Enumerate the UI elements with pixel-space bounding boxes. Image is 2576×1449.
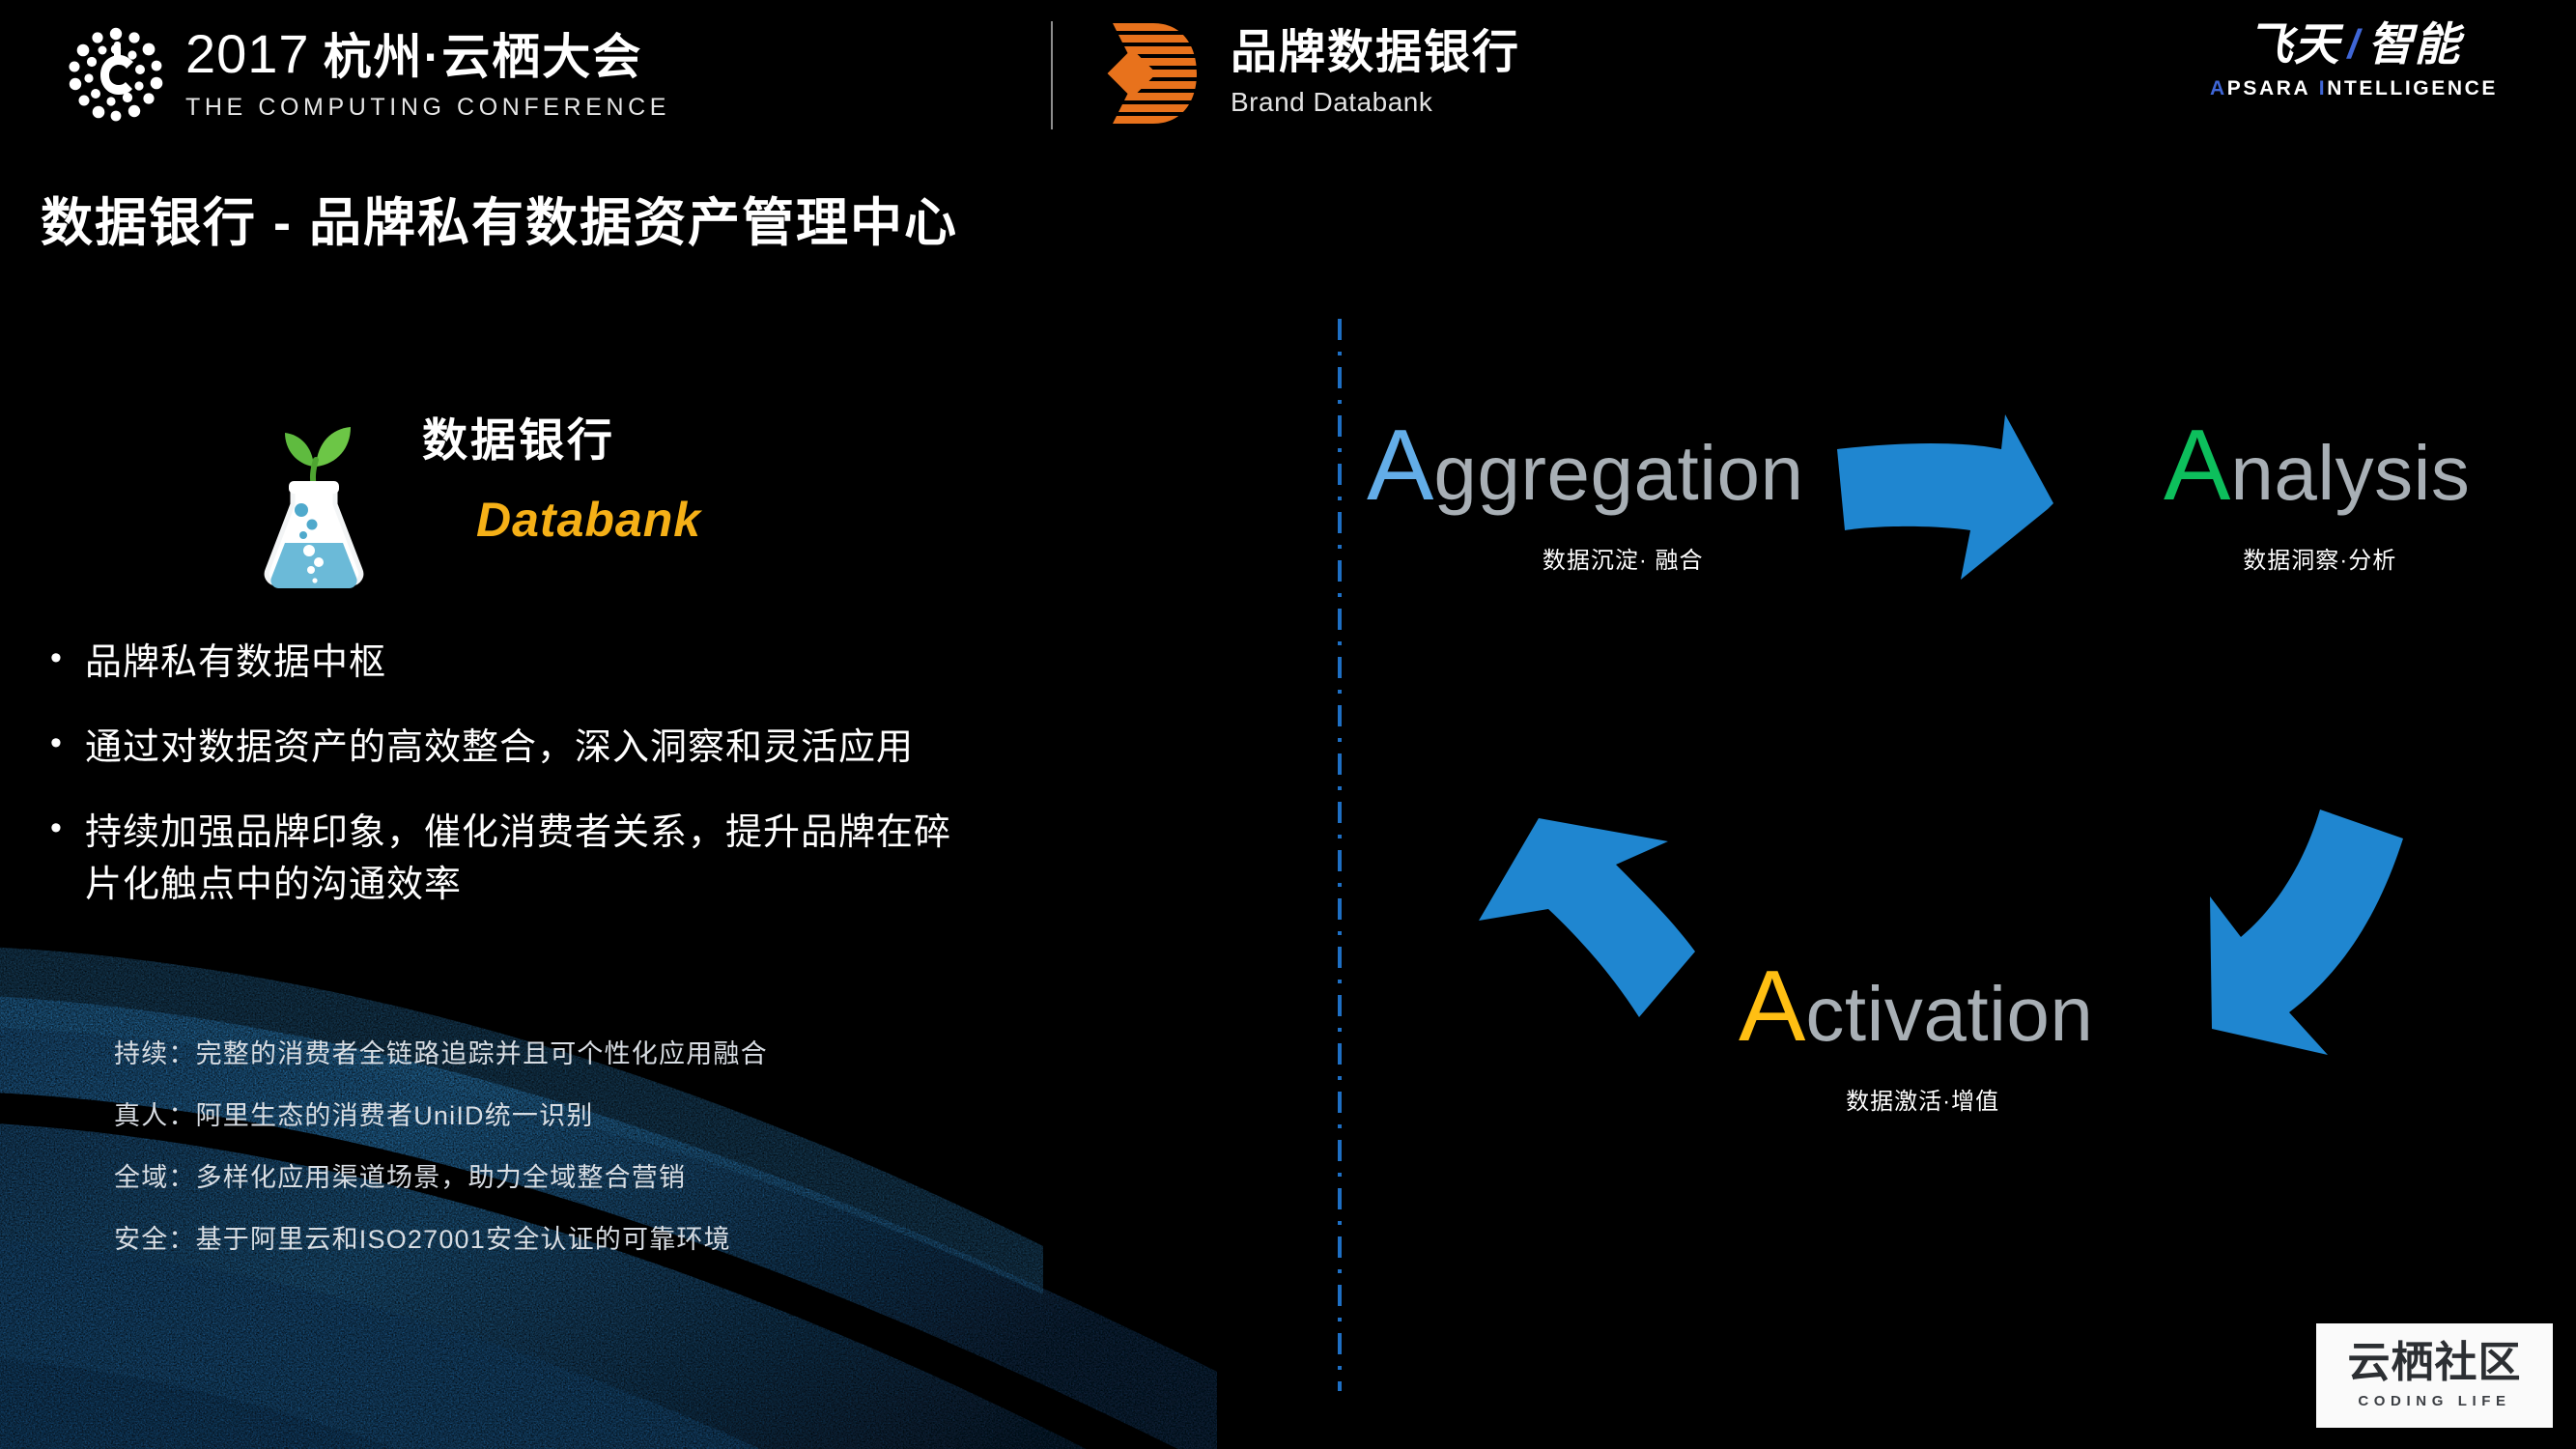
bullet-marker: • (27, 638, 85, 679)
diagram-node-analysis: Analysis 数据洞察·分析 (2164, 415, 2470, 575)
notes-list: 持续：完整的消费者全链路追踪并且可个性化应用融合 真人：阿里生态的消费者UniI… (114, 1041, 1080, 1289)
diagram-node-activation: Activation 数据激活·增值 (1739, 956, 2093, 1116)
brand-databank-b-logo-icon (1101, 19, 1209, 128)
bullet-text: 持续加强品牌印象，催化消费者关系，提升品牌在碎 片化触点中的沟通效率 (85, 808, 951, 912)
arrow-right-icon (1816, 411, 2193, 618)
diagram-node-aggregation: Aggregation 数据沉淀· 融合 (1367, 415, 1803, 575)
conference-logo-text: 2017 杭州·云栖大会 THE COMPUTING CONFERENCE (185, 27, 670, 122)
slide: 2017 杭州·云栖大会 THE COMPUTING CONFERENCE (0, 0, 2576, 1449)
header-divider (1051, 21, 1053, 129)
activation-caption: 数据激活·增值 (1752, 1082, 2093, 1116)
apsara-en-a: A (2210, 77, 2227, 99)
page-title: 数据银行 - 品牌私有数据资产管理中心 (41, 180, 958, 256)
yunqi-community-logo: 云栖社区 CODING LIFE (2316, 1323, 2553, 1428)
vertical-dash-dot-divider (1338, 319, 1342, 1391)
activation-rest: ctivation (1805, 971, 2093, 1057)
dot-circle-logo-icon (64, 22, 168, 127)
apsara-cn-left: 飞天 (2248, 21, 2340, 67)
apsara-en-ntelligence: NTELLIGENCE (2327, 77, 2498, 99)
bullet-marker: • (27, 723, 85, 764)
arrow-down-left-icon (2173, 753, 2463, 1072)
analysis-rest: nalysis (2230, 430, 2470, 516)
arrow-up-left-icon (1463, 768, 1743, 1072)
brand-databank-text: 品牌数据银行 Brand Databank (1231, 29, 1520, 117)
apsara-intelligence-logo: 飞天 / 智能 APSARA INTELLIGENCE (2209, 21, 2499, 100)
databank-labels: 数据银行 Databank (422, 396, 701, 544)
note-line: 全域：多样化应用渠道场景，助力全域整合营销 (114, 1165, 1080, 1191)
slide-header: 2017 杭州·云栖大会 THE COMPUTING CONFERENCE (0, 0, 2576, 155)
note-line: 安全：基于阿里云和ISO27001安全认证的可靠环境 (114, 1227, 1080, 1253)
apsara-cn-right: 智能 (2367, 21, 2460, 67)
flask-sprout-icon (256, 396, 372, 594)
apsara-slash: / (2348, 24, 2361, 65)
aggregation-rest: ggregation (1433, 430, 1803, 516)
yunqi-en-text: CODING LIFE (2358, 1393, 2510, 1409)
bullet-marker: • (27, 808, 85, 849)
apsara-en: APSARA INTELLIGENCE (2209, 77, 2499, 100)
list-item: • 通过对数据资产的高效整合，深入洞察和灵活应用 (27, 723, 1312, 775)
bullet-text: 通过对数据资产的高效整合，深入洞察和灵活应用 (85, 723, 914, 775)
bullet-text: 品牌私有数据中枢 (85, 638, 386, 690)
note-line: 真人：阿里生态的消费者UniID统一识别 (114, 1103, 1080, 1129)
aggregation-initial: A (1367, 410, 1433, 522)
databank-title-en: Databank (476, 496, 701, 544)
conference-name-en: THE COMPUTING CONFERENCE (185, 94, 670, 122)
activation-initial: A (1739, 951, 1805, 1063)
conference-logo: 2017 杭州·云栖大会 THE COMPUTING CONFERENCE (64, 17, 1059, 131)
conference-year: 2017 (185, 27, 310, 81)
analysis-caption: 数据洞察·分析 (2169, 541, 2470, 575)
list-item: • 品牌私有数据中枢 (27, 638, 1312, 690)
yunqi-cn-text: 云栖社区 (2348, 1342, 2522, 1384)
aggregation-caption: 数据沉淀· 融合 (1442, 541, 1803, 575)
databank-heading: 数据银行 Databank (256, 396, 701, 594)
apsara-en-psara: PSARA (2227, 77, 2311, 99)
note-line: 持续：完整的消费者全链路追踪并且可个性化应用融合 (114, 1041, 1080, 1067)
databank-title-cn: 数据银行 (422, 417, 701, 463)
brand-databank-cn: 品牌数据银行 (1231, 29, 1520, 77)
brand-databank-logo: 品牌数据银行 Brand Databank (1101, 19, 1520, 128)
bullet-list: • 品牌私有数据中枢 • 通过对数据资产的高效整合，深入洞察和灵活应用 • 持续… (27, 638, 1312, 945)
brand-databank-en: Brand Databank (1231, 87, 1520, 118)
conference-name-cn: 杭州·云栖大会 (324, 33, 643, 81)
list-item: • 持续加强品牌印象，催化消费者关系，提升品牌在碎 片化触点中的沟通效率 (27, 808, 1312, 912)
apsara-en-i: I (2319, 77, 2327, 99)
